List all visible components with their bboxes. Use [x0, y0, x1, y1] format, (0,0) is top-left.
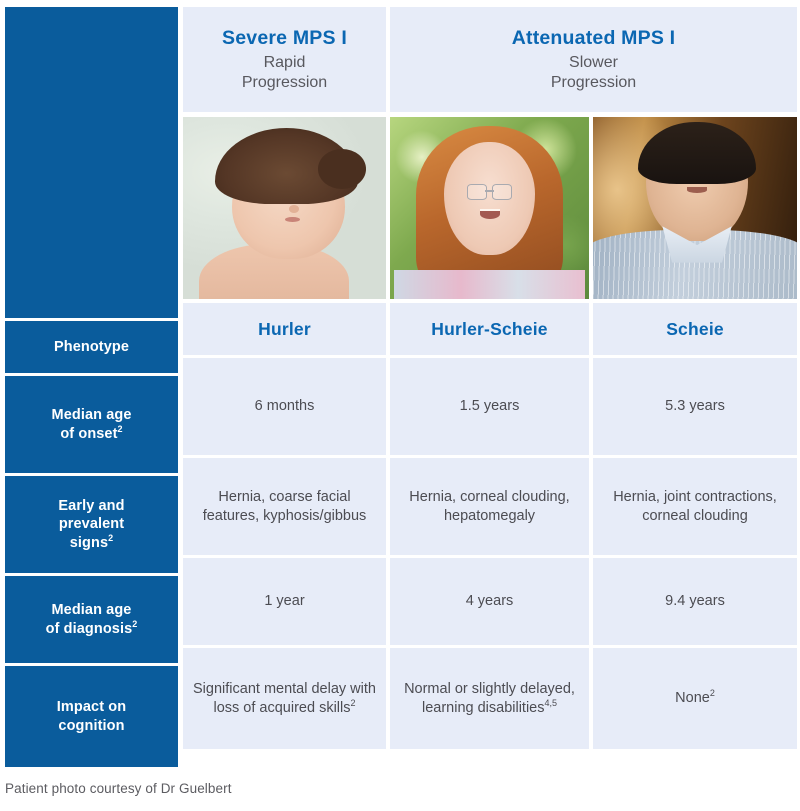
cell-cognition-hurler-scheie: Normal or slightly delayed, learning dis… [390, 648, 589, 749]
row-label-impact-on-cognition: Impact on cognition [5, 666, 178, 767]
row-label-median-age-of-onset: Median age of onset2 [5, 376, 178, 473]
table-row-median-age-of-diagnosis: 1 year 4 years 9.4 years [183, 558, 797, 645]
cell-onset-scheie: 5.3 years [593, 358, 797, 455]
header-attenuated-title: Attenuated MPS I [512, 26, 676, 51]
photo-scheie-man-image [593, 117, 797, 299]
photo-severe-infant-image [183, 117, 386, 299]
eyeglasses-right-lens [492, 184, 512, 200]
cell-onset-hurler-scheie: 1.5 years [390, 358, 589, 455]
cell-signs-scheie: Hernia, joint contractions, corneal clou… [593, 458, 797, 555]
man-smile [687, 187, 707, 193]
infant-mouth [285, 217, 300, 222]
header-row: Severe MPS I Rapid Progression Attenuate… [183, 7, 797, 112]
cell-diagnosis-hurler: 1 year [183, 558, 386, 645]
girl-smile [480, 209, 500, 219]
patient-photo-row [183, 117, 797, 299]
photo-hurler-scheie-girl-image [390, 117, 589, 299]
row-label-median-age-of-diagnosis-text: Median age of diagnosis2 [46, 601, 138, 637]
cell-cognition-scheie: None2 [593, 648, 797, 749]
row-label-phenotype-text: Phenotype [54, 338, 129, 356]
label-column-header-spacer [5, 7, 178, 318]
superscript-ref: 2 [108, 533, 113, 543]
mps1-phenotype-comparison-table: Phenotype Median age of onset2 Early and… [0, 0, 800, 811]
photo-hurler-scheie-girl [390, 117, 589, 299]
row-label-phenotype: Phenotype [5, 321, 178, 373]
row-label-early-and-prevalent-signs: Early and prevalent signs2 [5, 476, 178, 573]
cell-cognition-hurler: Significant mental delay with loss of ac… [183, 648, 386, 749]
cell-cognition-hurler-text: Significant mental delay with loss of ac… [191, 680, 378, 718]
cell-onset-hurler: 6 months [183, 358, 386, 455]
table-row-median-age-of-onset: 6 months 1.5 years 5.3 years [183, 358, 797, 455]
row-label-column: Phenotype Median age of onset2 Early and… [5, 7, 178, 770]
header-attenuated-mps1: Attenuated MPS I Slower Progression [390, 7, 797, 112]
cell-diagnosis-scheie: 9.4 years [593, 558, 797, 645]
cell-cognition-hurler-scheie-text: Normal or slightly delayed, learning dis… [398, 680, 581, 718]
photo-severe-infant [183, 117, 386, 299]
cell-phenotype-hurler: Hurler [183, 303, 386, 355]
comparison-grid: Severe MPS I Rapid Progression Attenuate… [183, 7, 797, 749]
row-label-median-age-of-diagnosis: Median age of diagnosis2 [5, 576, 178, 663]
cell-signs-hurler: Hernia, coarse facial features, kyphosis… [183, 458, 386, 555]
row-label-median-age-of-onset-text: Median age of onset2 [52, 406, 132, 442]
table-row-phenotype: Hurler Hurler-Scheie Scheie [183, 303, 797, 355]
infant-hair-shape [215, 128, 357, 204]
eyeglasses-left-lens [467, 184, 487, 200]
man-hair-shape [638, 122, 756, 184]
eyeglasses-icon [467, 184, 513, 198]
superscript-ref: 4,5 [545, 698, 558, 708]
girl-shirt [394, 270, 585, 299]
cell-diagnosis-hurler-scheie: 4 years [390, 558, 589, 645]
infant-nose [289, 205, 299, 213]
row-label-impact-on-cognition-text: Impact on cognition [57, 698, 126, 734]
table-row-impact-on-cognition: Significant mental delay with loss of ac… [183, 648, 797, 749]
photo-scheie-man [593, 117, 797, 299]
header-severe-mps1: Severe MPS I Rapid Progression [183, 7, 386, 112]
table-row-early-and-prevalent-signs: Hernia, coarse facial features, kyphosis… [183, 458, 797, 555]
superscript-ref: 2 [710, 688, 715, 698]
header-attenuated-subtitle: Slower Progression [551, 53, 636, 93]
cell-phenotype-hurler-scheie: Hurler-Scheie [390, 303, 589, 355]
superscript-ref: 2 [350, 698, 355, 708]
superscript-ref: 2 [132, 619, 137, 629]
cell-cognition-scheie-text: None2 [675, 689, 715, 708]
girl-face-shape [444, 142, 536, 255]
photo-credit-footer: Patient photo courtesy of Dr Guelbert [5, 781, 232, 796]
cell-phenotype-scheie: Scheie [593, 303, 797, 355]
row-label-early-and-prevalent-signs-text: Early and prevalent signs2 [58, 497, 124, 551]
eyeglasses-bridge [485, 190, 494, 192]
header-severe-subtitle: Rapid Progression [242, 53, 327, 93]
superscript-ref: 2 [118, 424, 123, 434]
header-severe-title: Severe MPS I [222, 26, 347, 51]
cell-signs-hurler-scheie: Hernia, corneal clouding, hepatomegaly [390, 458, 589, 555]
